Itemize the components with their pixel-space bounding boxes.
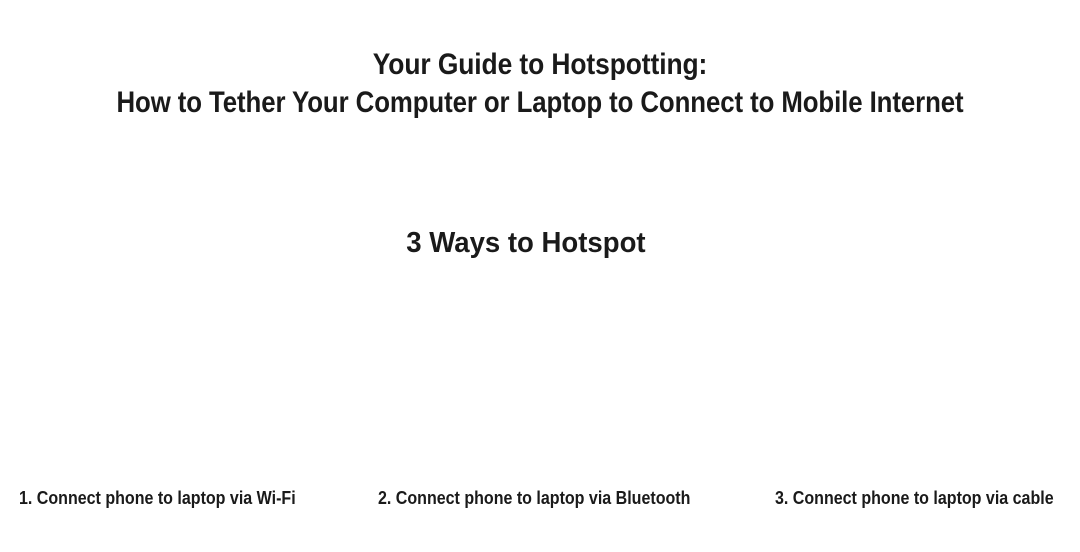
method-illustration-row (0, 285, 1080, 475)
method-illustration-2 (378, 285, 704, 475)
page-title-line-1: Your Guide to Hotspotting: (65, 46, 1015, 84)
method-caption-cable: 3. Connect phone to laptop via cable (775, 486, 1054, 510)
method-illustration-1 (19, 285, 319, 475)
method-caption-bluetooth: 2. Connect phone to laptop via Bluetooth (378, 486, 690, 510)
page-title-line-2: How to Tether Your Computer or Laptop to… (76, 84, 1005, 122)
method-illustration-3 (775, 285, 1062, 475)
section-heading: 3 Ways to Hotspot (0, 224, 1080, 262)
method-caption-wifi: 1. Connect phone to laptop via Wi-Fi (19, 486, 296, 510)
method-caption-row: 1. Connect phone to laptop via Wi-Fi 2. … (0, 486, 1080, 512)
section-heading-text: 3 Ways to Hotspot (406, 224, 645, 262)
article-page: Your Guide to Hotspotting: How to Tether… (0, 0, 1080, 552)
page-title: Your Guide to Hotspotting: How to Tether… (0, 46, 1080, 122)
